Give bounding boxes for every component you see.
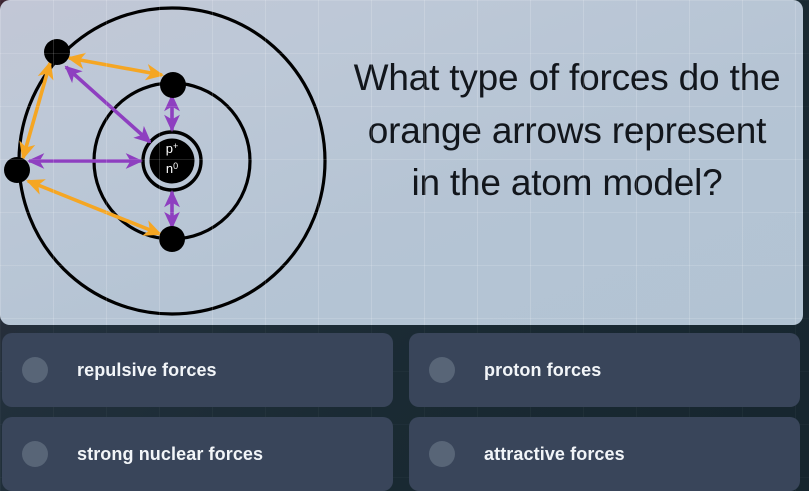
radio-button-icon[interactable] <box>22 441 48 467</box>
electron-top <box>160 72 186 98</box>
orange-arrow-left-bottom <box>28 181 160 234</box>
answer-option-strong-nuclear-forces[interactable]: strong nuclear forces <box>2 417 393 491</box>
answer-options-grid: repulsive forces proton forces strong nu… <box>0 333 809 491</box>
question-card: p+ n0 What type of forces do the orange … <box>0 0 803 325</box>
electron-bottom <box>159 226 185 252</box>
electron-top-left <box>44 39 70 65</box>
answer-option-label: repulsive forces <box>77 360 217 381</box>
radio-button-icon[interactable] <box>429 357 455 383</box>
answer-option-label: proton forces <box>484 360 601 381</box>
radio-button-icon[interactable] <box>22 357 48 383</box>
orange-arrow-topleft-top <box>69 58 162 75</box>
answer-option-proton-forces[interactable]: proton forces <box>409 333 800 407</box>
question-prompt: What type of forces do the orange arrows… <box>352 52 782 210</box>
radio-button-icon[interactable] <box>429 441 455 467</box>
answer-option-repulsive-forces[interactable]: repulsive forces <box>2 333 393 407</box>
answer-option-attractive-forces[interactable]: attractive forces <box>409 417 800 491</box>
purple-arrow-nucleus-topleft <box>66 67 150 142</box>
answer-option-label: strong nuclear forces <box>77 444 263 465</box>
quiz-screen: p+ n0 What type of forces do the orange … <box>0 0 809 491</box>
electron-left <box>4 157 30 183</box>
atom-model-diagram: p+ n0 <box>0 0 350 325</box>
answer-option-label: attractive forces <box>484 444 625 465</box>
